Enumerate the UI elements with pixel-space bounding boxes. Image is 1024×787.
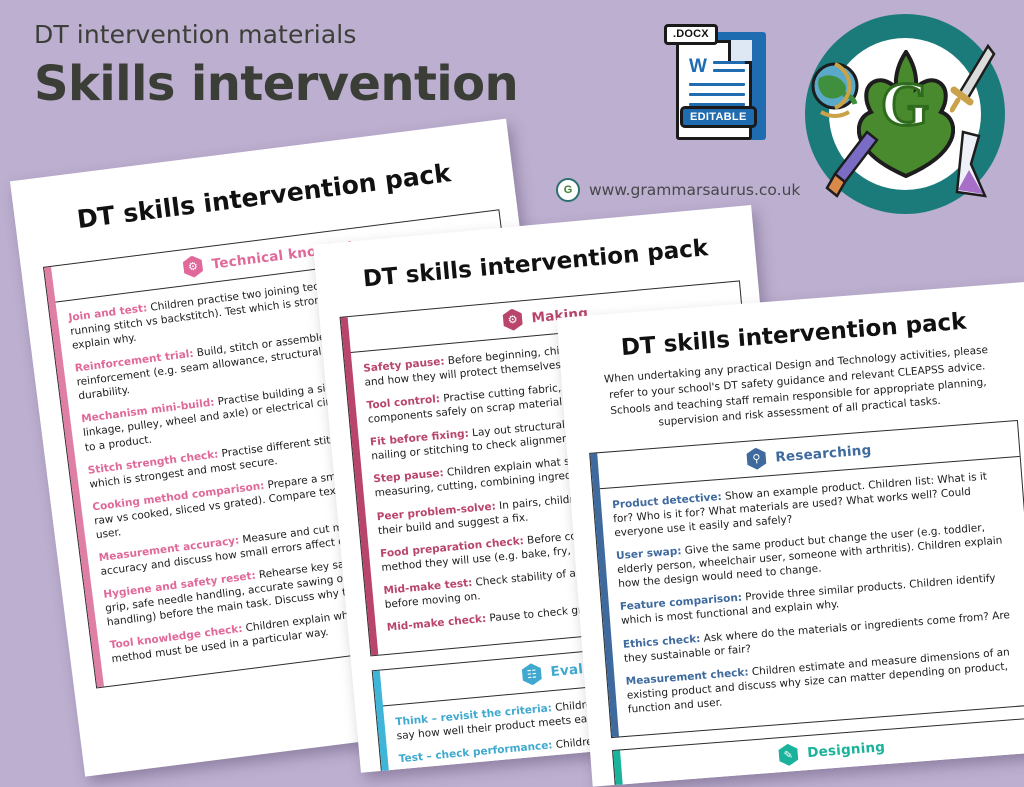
- strategy-term: Safety pause:: [363, 356, 445, 375]
- section-researching: ⚲ResearchingProduct detective: Show an e…: [589, 420, 1024, 738]
- strategy-term: Reinforcement trial:: [74, 348, 194, 375]
- text-line-icon: [713, 61, 745, 64]
- word-letter: W: [689, 57, 707, 76]
- strategy-term: Stitch strength check:: [87, 448, 219, 476]
- header-eyebrow: DT intervention materials: [34, 22, 518, 47]
- strategy-term: Measurement check:: [625, 666, 749, 687]
- docx-extension-label: .DOCX: [664, 24, 718, 45]
- strategy-term: Feature comparison:: [620, 592, 743, 613]
- strategy-term: Peer problem-solve:: [376, 500, 496, 523]
- strategy-term: Food preparation check:: [380, 535, 525, 560]
- strategy-term: Think – revisit the criteria:: [395, 702, 552, 728]
- strategy-term: Join and test:: [68, 302, 148, 324]
- paintbrush-icon: [823, 130, 883, 206]
- page-header: DT intervention materials Skills interve…: [34, 22, 518, 111]
- editable-label: EDITABLE: [680, 106, 757, 128]
- text-line-icon: [713, 69, 745, 72]
- sword-icon: [950, 44, 1000, 116]
- strategy-term: Mid-make test:: [383, 577, 473, 597]
- section-label: Researching: [775, 442, 872, 465]
- strategy-term: Product detective:: [612, 491, 722, 511]
- page-title: Skills intervention: [34, 59, 518, 111]
- strategy-term: Ethics check:: [622, 632, 700, 650]
- strategy-term: Fit before fixing:: [370, 428, 470, 449]
- flask-icon: [945, 130, 1001, 204]
- strategy-term: Mid-make check:: [386, 613, 486, 634]
- strategy-term: Step pause:: [373, 467, 444, 485]
- strategy-term: Mechanism mini-build:: [81, 397, 216, 426]
- globe-icon: [809, 60, 863, 122]
- website-row: G www.grammarsaurus.co.uk: [556, 178, 800, 202]
- mark-letter: G: [564, 184, 573, 196]
- document-preview-3[interactable]: DT skills intervention packWhen undertak…: [557, 282, 1024, 787]
- clipboard-icon: ☷: [520, 662, 544, 686]
- website-url: www.grammarsaurus.co.uk: [589, 181, 800, 199]
- section-label: Designing: [807, 739, 886, 761]
- strategy-term: Tool knowledge check:: [109, 623, 243, 652]
- grammarsaurus-curriculum-logo: G: [805, 14, 1005, 214]
- section-body: Product detective: Show an example produ…: [593, 457, 1024, 737]
- docx-file-badge: W .DOCX EDITABLE: [664, 18, 776, 148]
- text-line-icon: [689, 83, 745, 86]
- pencil-icon: ✎: [777, 743, 801, 767]
- strategy-term: User swap:: [616, 545, 682, 562]
- strategy-term: Tool control:: [366, 393, 440, 412]
- gear-tools-icon: ⚙: [501, 308, 525, 332]
- text-line-icon: [689, 93, 745, 96]
- grammarsaurus-mark-icon: G: [556, 178, 580, 202]
- magnifier-icon: ⚲: [745, 447, 769, 471]
- head-gear-icon: ⚙: [181, 254, 206, 279]
